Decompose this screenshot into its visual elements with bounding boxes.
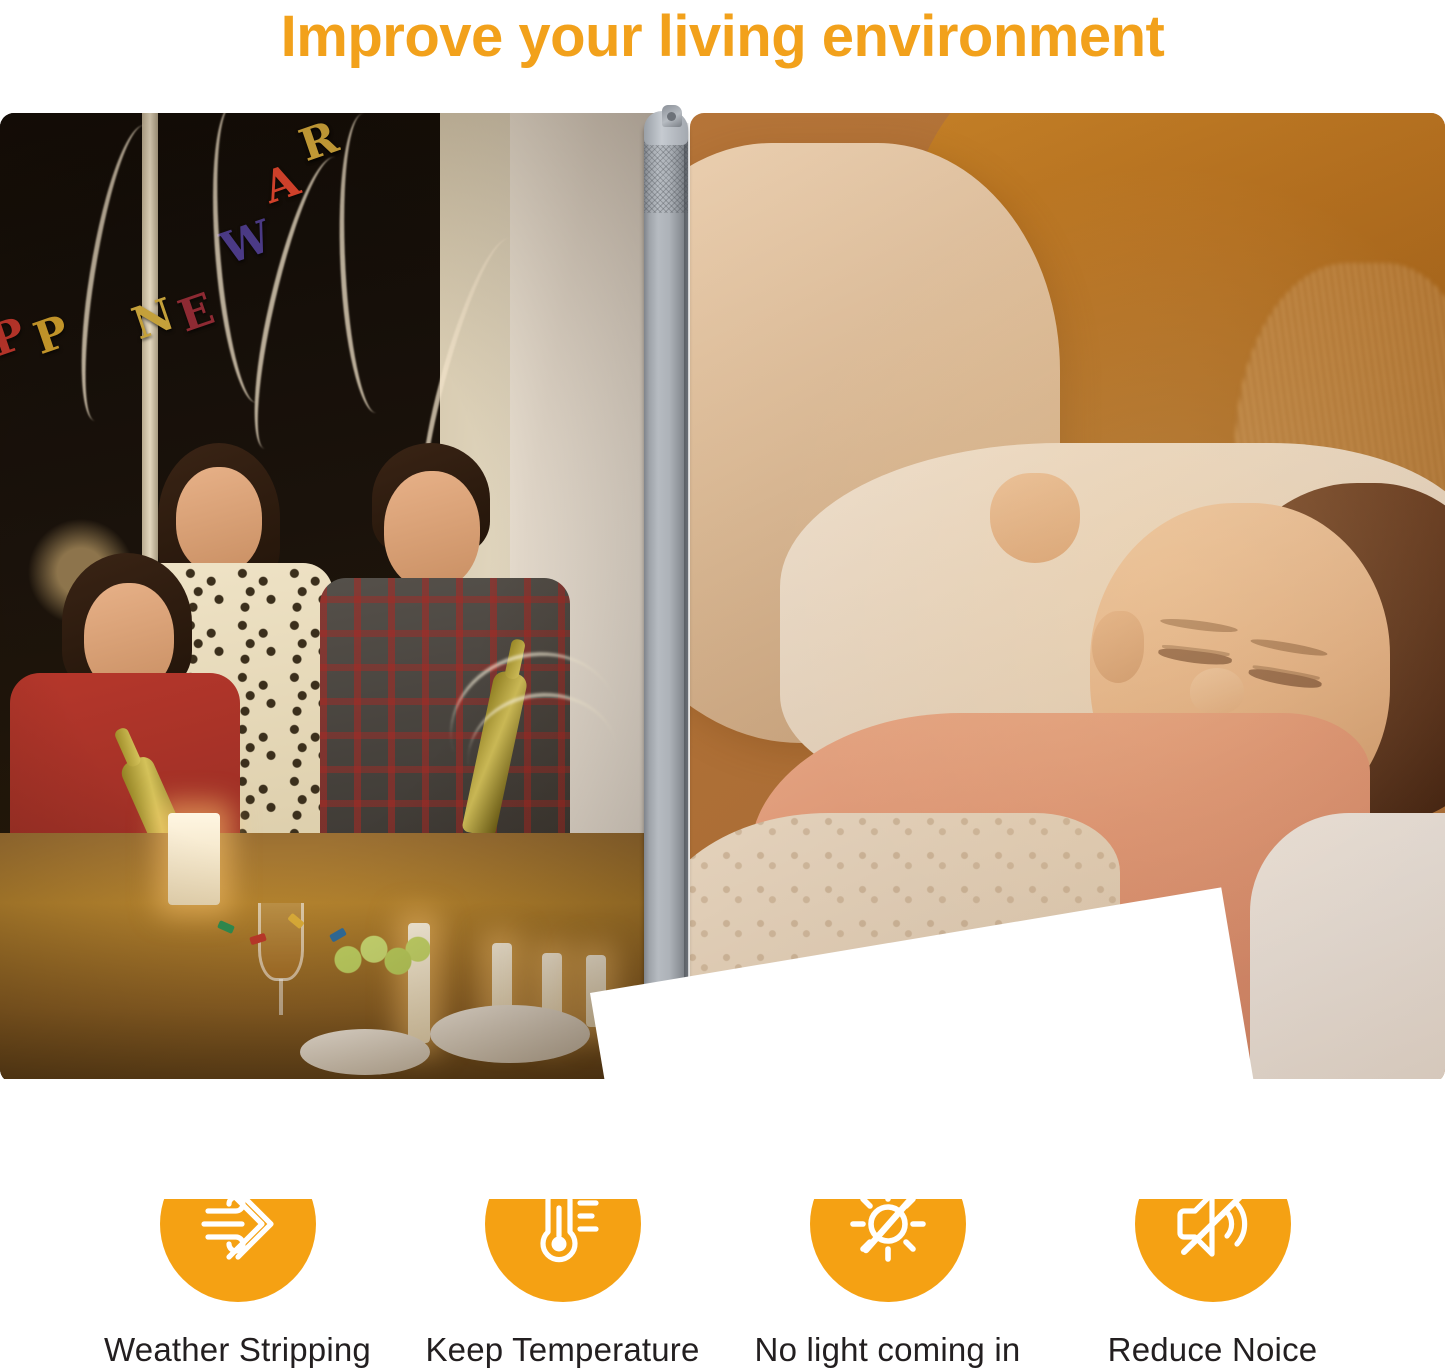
food-plate	[300, 1029, 430, 1075]
strip-edge-shadow	[684, 123, 689, 1091]
food-plate	[430, 1005, 590, 1063]
strip-notch	[662, 105, 682, 127]
feature-label: Reduce Noice	[1108, 1330, 1318, 1370]
product-marketing-image: Improve your living environment P P N E …	[0, 0, 1445, 1371]
weather-strip-seal	[640, 105, 692, 1091]
child-ear	[1092, 611, 1144, 683]
new-year-party-photo: P P N E A R R W	[0, 113, 660, 1083]
child-hand	[990, 473, 1080, 563]
feature-label: Keep Temperature	[425, 1330, 699, 1370]
photo-collage: P P N E A R R W	[0, 113, 1445, 1085]
pillar-candle	[168, 813, 220, 905]
child-white-sleeve	[1250, 813, 1445, 1083]
feature-label: No light coming in	[755, 1330, 1021, 1370]
page-title: Improve your living environment	[0, 2, 1445, 72]
child-nose	[1190, 668, 1244, 714]
grapes	[330, 931, 430, 983]
strip-body	[644, 123, 688, 1091]
feature-label: Weather Stripping	[104, 1330, 371, 1370]
bottom-cut-mask	[0, 1079, 1445, 1199]
